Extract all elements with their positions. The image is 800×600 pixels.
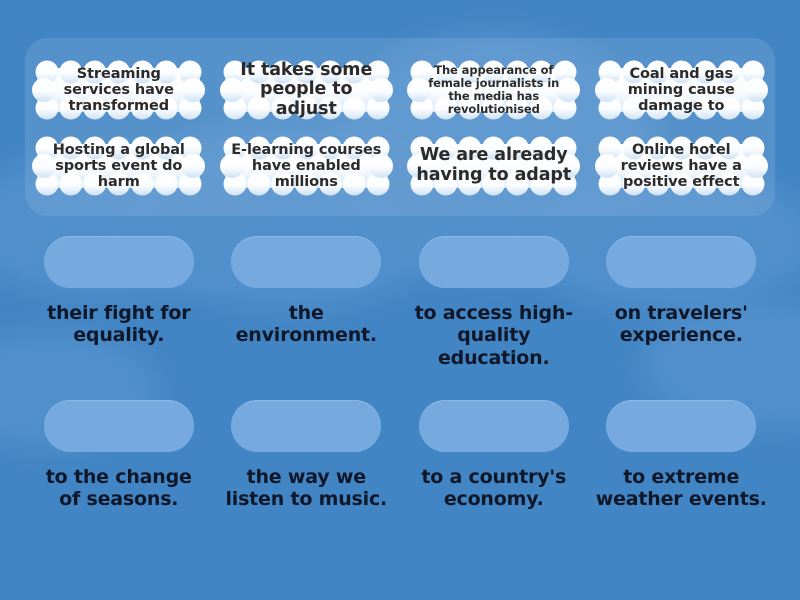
answer-item-1: their fight for equality. xyxy=(25,236,213,369)
prompt-card-4[interactable]: Coal and gas mining cause damage to xyxy=(594,59,769,121)
drop-slot-8[interactable] xyxy=(606,400,756,452)
prompt-card-slot: Online hotel reviews have a positive eff… xyxy=(588,132,776,200)
answer-item-4: on travelers' experience. xyxy=(588,236,776,369)
prompt-card-label: Online hotel reviews have a positive eff… xyxy=(604,142,759,191)
prompt-card-row: Streaming services have transformed It t… xyxy=(25,56,775,124)
prompt-card-row: Hosting a global sports event do harm E-… xyxy=(25,132,775,200)
answer-item-5: to the change of seasons. xyxy=(25,400,213,511)
prompt-card-3[interactable]: The appearance of female journalists in … xyxy=(406,59,581,121)
prompt-card-slot: Coal and gas mining cause damage to xyxy=(588,56,776,124)
drop-slot-4[interactable] xyxy=(606,236,756,288)
prompt-card-8[interactable]: Online hotel reviews have a positive eff… xyxy=(594,135,769,197)
drop-slot-2[interactable] xyxy=(231,236,381,288)
drop-slot-6[interactable] xyxy=(231,400,381,452)
prompt-card-label: The appearance of female journalists in … xyxy=(416,64,571,116)
answer-item-8: to extreme weather events. xyxy=(588,400,776,511)
prompt-card-1[interactable]: Streaming services have transformed xyxy=(31,59,206,121)
answer-item-7: to a country's economy. xyxy=(400,400,588,511)
prompt-card-label: It takes some people to adjust xyxy=(229,61,384,120)
prompt-card-label: E-learning courses have enabled millions xyxy=(229,142,384,191)
drop-slot-5[interactable] xyxy=(44,400,194,452)
prompt-card-slot: Hosting a global sports event do harm xyxy=(25,132,213,200)
prompt-card-7[interactable]: We are already having to adapt xyxy=(406,135,581,197)
prompt-card-label: We are already having to adapt xyxy=(416,146,571,185)
answer-row-2: to the change of seasons. the way we lis… xyxy=(25,400,775,511)
answer-label-1: their fight for equality. xyxy=(33,302,205,347)
answer-label-7: to a country's economy. xyxy=(408,466,580,511)
prompt-card-2[interactable]: It takes some people to adjust xyxy=(219,59,394,121)
prompt-card-label: Streaming services have transformed xyxy=(41,66,196,115)
prompt-card-6[interactable]: E-learning courses have enabled millions xyxy=(219,135,394,197)
answer-item-6: the way we listen to music. xyxy=(213,400,401,511)
prompt-card-slot: The appearance of female journalists in … xyxy=(400,56,588,124)
answer-item-2: the environment. xyxy=(213,236,401,369)
prompt-card-slot: It takes some people to adjust xyxy=(213,56,401,124)
drop-slot-7[interactable] xyxy=(419,400,569,452)
prompt-card-label: Coal and gas mining cause damage to xyxy=(604,66,759,115)
answer-item-3: to access high-quality education. xyxy=(400,236,588,369)
answer-label-2: the environment. xyxy=(220,302,392,347)
answer-label-5: to the change of seasons. xyxy=(33,466,205,511)
answer-label-8: to extreme weather events. xyxy=(595,466,767,511)
answer-label-3: to access high-quality education. xyxy=(408,302,580,369)
prompt-card-tray: Streaming services have transformed It t… xyxy=(25,38,775,216)
prompt-card-label: Hosting a global sports event do harm xyxy=(41,142,196,191)
prompt-card-slot: E-learning courses have enabled millions xyxy=(213,132,401,200)
prompt-card-slot: We are already having to adapt xyxy=(400,132,588,200)
drop-slot-1[interactable] xyxy=(44,236,194,288)
answer-label-4: on travelers' experience. xyxy=(595,302,767,347)
answer-row-1: their fight for equality. the environmen… xyxy=(25,236,775,369)
prompt-card-5[interactable]: Hosting a global sports event do harm xyxy=(31,135,206,197)
answer-label-6: the way we listen to music. xyxy=(220,466,392,511)
drop-slot-3[interactable] xyxy=(419,236,569,288)
prompt-card-slot: Streaming services have transformed xyxy=(25,56,213,124)
